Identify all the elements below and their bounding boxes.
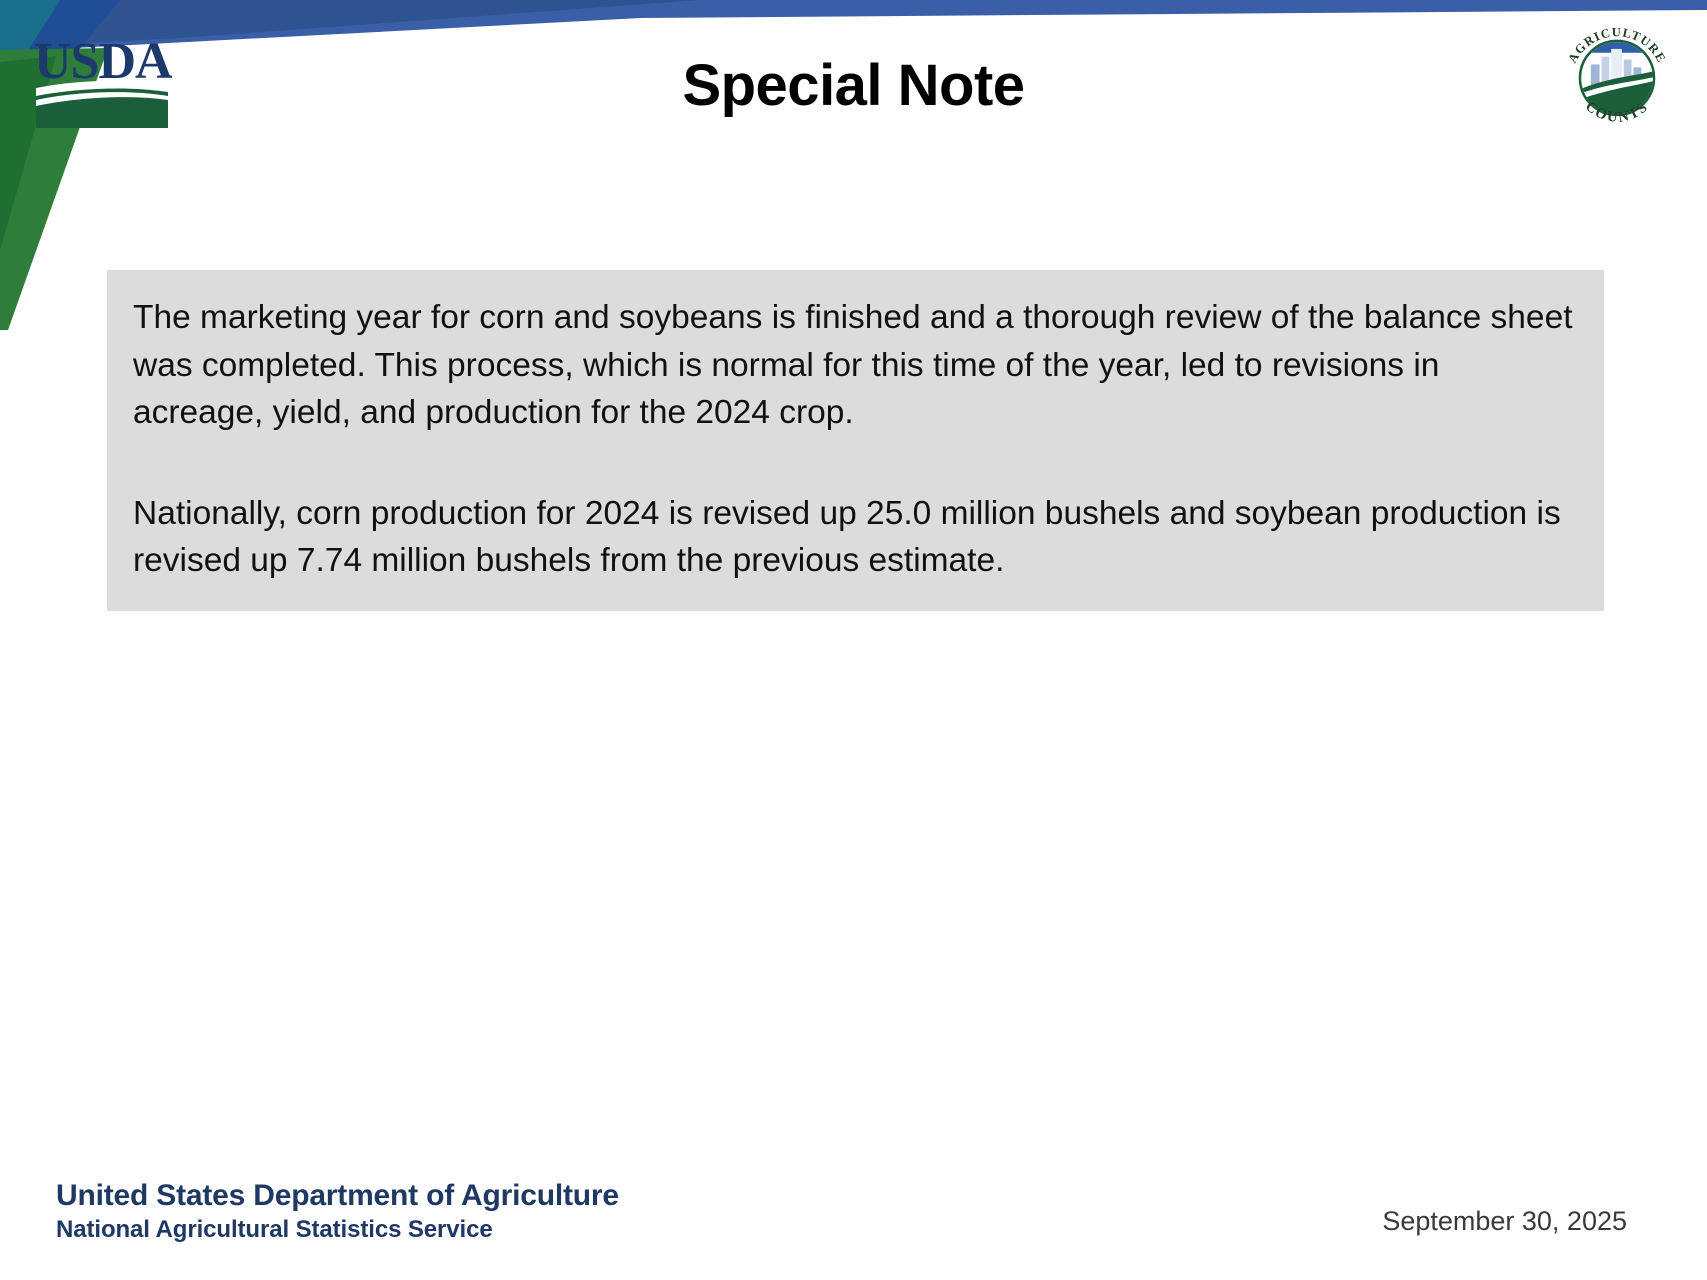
footer-date: September 30, 2025	[1382, 1206, 1627, 1237]
footer-service-name: National Agricultural Statistics Service	[56, 1215, 619, 1245]
page-title: Special Note	[0, 52, 1707, 119]
footer-agency-block: United States Department of Agriculture …	[56, 1178, 619, 1245]
footer-department-name: United States Department of Agriculture	[56, 1178, 619, 1213]
special-note-box: The marketing year for corn and soybeans…	[107, 270, 1604, 611]
slide-canvas: USDA AGRICULT	[0, 0, 1707, 1280]
note-paragraph-1: The marketing year for corn and soybeans…	[133, 294, 1578, 437]
note-paragraph-2: Nationally, corn production for 2024 is …	[133, 490, 1578, 585]
